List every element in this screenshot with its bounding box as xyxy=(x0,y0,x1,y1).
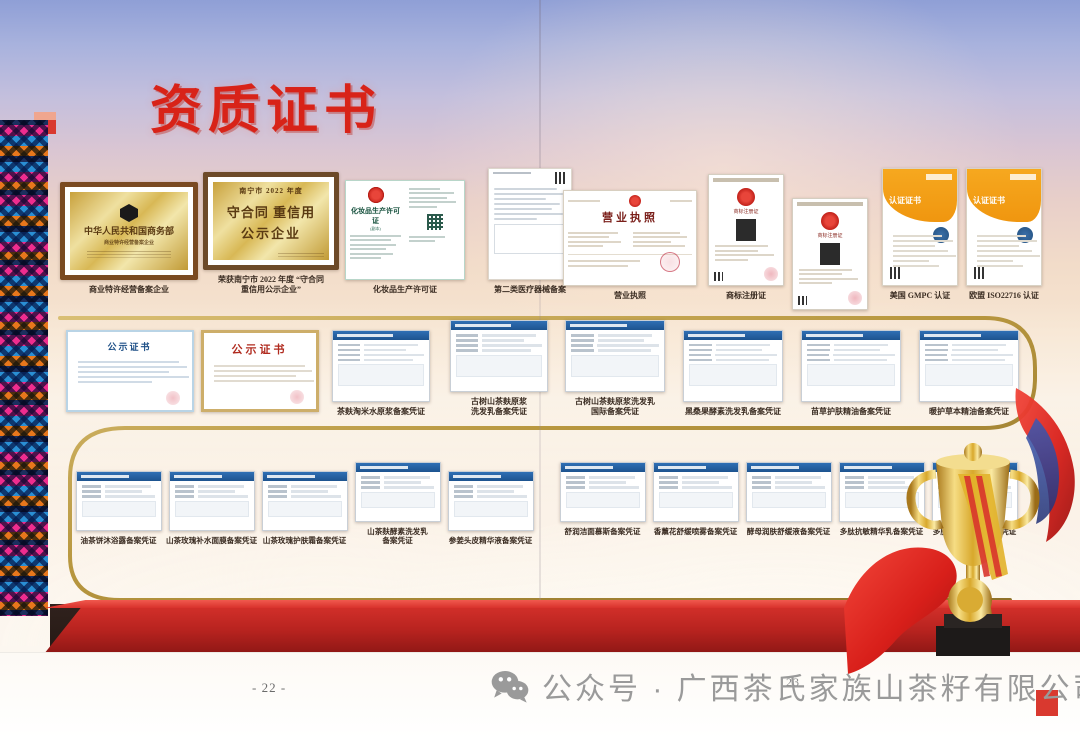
certificate-item[interactable]: 商标注册证 商标注册证 xyxy=(704,174,788,301)
plaque-line-2: 商业特许经营备案企业 xyxy=(104,239,154,246)
official-seal-icon xyxy=(660,252,680,272)
certificate-caption: 酵母润肤舒缓液备案凭证 xyxy=(741,527,836,536)
certificate-caption: 油茶饼沐浴露备案凭证 xyxy=(71,536,166,545)
qr-code-icon xyxy=(974,267,986,279)
certificate-caption: 山茶麸酵素洗发乳 备案凭证 xyxy=(350,527,445,546)
award-decoration xyxy=(840,378,1080,678)
certificate-item[interactable]: 古树山茶麸原浆 洗发乳备案凭证 xyxy=(440,320,558,417)
certificate-caption: 茶麸淘米水原浆备案凭证 xyxy=(322,407,440,417)
certificate-item[interactable]: 营业执照 营业执照 xyxy=(556,190,704,301)
footer-brand: 公众号 · 广西茶氏家族山茶籽有限公司 xyxy=(490,664,1080,708)
certificate-row-3: 油茶饼沐浴露备案凭证 山茶玫瑰补水面膜备案凭证 山茶玫瑰护肤霜备案凭证 山茶麸酵… xyxy=(72,462,537,546)
qr-code-icon xyxy=(890,267,902,279)
certificate-caption: 参姜头皮精华液备案凭证 xyxy=(441,536,541,545)
certificate-caption: 古树山茶麸原浆洗发乳 国际备案凭证 xyxy=(556,397,674,417)
certificate-item[interactable]: 南宁市 2022 年度 守合同 重信用 公示企业 荣获南宁市 2022 年度 “… xyxy=(200,172,342,295)
certificate-caption: 美国 GMPC 认证 xyxy=(878,291,962,301)
plaque-line-1: 南宁市 2022 年度 xyxy=(239,186,303,196)
certificate-row-1-right: 营业执照 营业执照 商标注册证 xyxy=(556,168,1046,301)
national-emblem-icon xyxy=(737,188,755,206)
doc-title: 营业执照 xyxy=(568,209,692,225)
page-title: 资质证书 xyxy=(150,68,382,143)
certificate-item[interactable]: 山茶麸酵素洗发乳 备案凭证 xyxy=(351,462,444,546)
official-seal-icon xyxy=(764,267,778,281)
certificate-row-2: 公示证书 公示证书 xyxy=(62,320,558,417)
national-emblem-icon xyxy=(821,212,839,230)
doc-title: 商标注册证 xyxy=(793,232,867,239)
wechat-icon xyxy=(490,669,530,703)
certificate-item[interactable]: 商标注册证 xyxy=(788,198,872,301)
plaque-line-2: 守合同 重信用 xyxy=(227,202,315,221)
zhuang-brocade-pattern xyxy=(0,120,48,616)
certificate-caption: 舒润洁面慕斯备案凭证 xyxy=(555,527,650,536)
doc-title: 公示证书 xyxy=(204,341,316,357)
certificate-item[interactable]: 公示证书 xyxy=(62,330,197,417)
certificate-caption: 荣获南宁市 2022 年度 “守合同 重信用公示企业” xyxy=(201,275,341,295)
certificate-item[interactable]: 古树山茶麸原浆洗发乳 国际备案凭证 xyxy=(556,320,674,417)
certificate-item[interactable]: 茶麸淘米水原浆备案凭证 xyxy=(322,330,440,417)
page-number-right: 23 xyxy=(786,675,800,690)
certificate-item[interactable]: 酵母润肤舒缓液备案凭证 xyxy=(742,462,835,536)
certificate-row-1: 中华人民共和国商务部 商业特许经营备案企业 商业特许经营备案企业 南宁市 202… xyxy=(58,168,592,295)
certificate-caption: 欧盟 ISO22716 认证 xyxy=(960,291,1048,301)
footer-brand-text: 公众号 · 广西茶氏家族山茶籽有限公司 xyxy=(542,664,1080,708)
certificate-item[interactable]: 化妆品生产许可证 (副本) 化妆品生产许可证 xyxy=(342,180,468,295)
plaque-line-1: 中华人民共和国商务部 xyxy=(84,224,174,237)
official-seal-icon xyxy=(290,390,304,404)
trademark-mark xyxy=(820,243,841,265)
doc-title: 认证证书 xyxy=(973,195,1005,206)
certificate-caption: 商标注册证 xyxy=(704,291,788,301)
brochure-page: 资质证书 中华人民共和国商务部 商业特许经营备案企业 商业特许经营备案企业 南宁… xyxy=(0,0,1080,738)
certificate-caption: 黑桑果酵素洗发乳备案凭证 xyxy=(674,407,792,417)
certificate-caption: 古树山茶麸原浆 洗发乳备案凭证 xyxy=(440,397,558,417)
certificate-item[interactable]: 参姜头皮精华液备案凭证 xyxy=(444,471,537,545)
doc-title: 公示证书 xyxy=(68,340,192,353)
doc-title: 化妆品生产许可证 xyxy=(350,206,401,226)
certificate-item[interactable]: 油茶饼沐浴露备案凭证 xyxy=(72,471,165,545)
national-emblem-icon xyxy=(629,195,641,207)
certificate-caption: 化妆品生产许可证 xyxy=(343,285,467,295)
certificate-caption: 山茶玫瑰补水面膜备案凭证 xyxy=(164,536,259,545)
certificate-caption: 商业特许经营备案企业 xyxy=(59,285,199,295)
doc-title: 认证证书 xyxy=(889,195,921,206)
doc-title: 商标注册证 xyxy=(709,208,783,215)
certificate-caption: 山茶玫瑰护肤霜备案凭证 xyxy=(257,536,352,545)
certificate-item[interactable]: 中华人民共和国商务部 商业特许经营备案企业 商业特许经营备案企业 xyxy=(58,182,200,295)
certificate-caption: 香薰花舒缓喷雾备案凭证 xyxy=(648,527,743,536)
certificate-item[interactable]: 公示证书 xyxy=(197,330,322,417)
page-number-left: - 22 - xyxy=(252,680,286,696)
certificate-caption: 营业执照 xyxy=(560,291,700,301)
certificate-item[interactable]: 舒润洁面慕斯备案凭证 xyxy=(556,462,649,536)
official-seal-icon xyxy=(848,291,862,305)
trademark-mark xyxy=(736,219,757,241)
certificate-item[interactable]: 黑桑果酵素洗发乳备案凭证 xyxy=(674,330,792,417)
certificate-item[interactable]: 香薰花舒缓喷雾备案凭证 xyxy=(649,462,742,536)
official-seal-icon xyxy=(166,391,180,405)
certificate-item[interactable]: 认证证书 美国 GMPC 认证 xyxy=(878,168,962,301)
certificate-item[interactable]: 山茶玫瑰补水面膜备案凭证 xyxy=(165,471,258,545)
plaque-line-3: 公示企业 xyxy=(241,223,301,242)
national-emblem-icon xyxy=(368,187,384,203)
certificate-item[interactable]: 山茶玫瑰护肤霜备案凭证 xyxy=(258,471,351,545)
certificate-item[interactable]: 认证证书 欧盟 ISO22716 认证 xyxy=(962,168,1046,301)
qr-code-icon xyxy=(427,214,443,230)
